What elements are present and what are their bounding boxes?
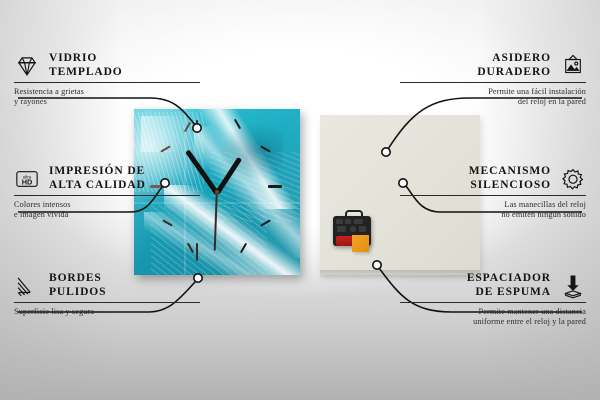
feature-subtitle: Superficie lisa y segura <box>14 307 200 317</box>
clock-tick <box>196 120 198 133</box>
feature-title: IMPRESIÓN DE ALTA CALIDAD <box>49 165 146 192</box>
feature-subtitle: Resistencia a grietas y rayones <box>14 87 200 108</box>
feature-divider <box>400 195 586 196</box>
clock-tick <box>268 185 282 188</box>
feature-title: VIDRIO TEMPLADO <box>49 52 123 79</box>
feature-header: VIDRIO TEMPLADO <box>14 52 200 79</box>
feature-header: BORDES PULIDOS <box>14 272 200 299</box>
feature-title: MECANISMO SILENCIOSO <box>469 165 551 192</box>
feature-header: ESPACIADOR DE ESPUMA <box>400 272 586 299</box>
feature-subtitle: Colores intensos e imagen vívida <box>14 200 200 221</box>
gear-icon <box>560 166 586 192</box>
clock-tick <box>196 243 198 261</box>
feature-header: ASIDERO DURADERO <box>400 52 586 79</box>
feature-divider <box>400 302 586 303</box>
svg-text:HD: HD <box>22 177 33 186</box>
feature-asidero-duradero: ASIDERO DURADERO Permite una fácil insta… <box>400 52 586 108</box>
feature-vidrio-templado: VIDRIO TEMPLADO Resistencia a grietas y … <box>14 52 200 108</box>
feature-header: MECANISMO SILENCIOSO <box>400 165 586 192</box>
feature-divider <box>400 82 586 83</box>
polished-edges-icon <box>14 273 40 299</box>
foam-spacer <box>352 235 369 252</box>
feature-espaciador-de-espuma: ESPACIADOR DE ESPUMA Permite mantener un… <box>400 272 586 328</box>
feature-divider <box>14 82 200 83</box>
feature-subtitle: Permite mantener una distancia uniforme … <box>400 307 586 328</box>
clock-center-pin <box>215 190 219 194</box>
feature-header: ultra HD IMPRESIÓN DE ALTA CALIDAD <box>14 165 200 192</box>
feature-subtitle: Permite una fácil instalación del reloj … <box>400 87 586 108</box>
feature-divider <box>14 195 200 196</box>
feature-subtitle: Las manecillas del reloj no emiten ningú… <box>400 200 586 221</box>
down-arrow-spacer-icon <box>560 273 586 299</box>
infographic-canvas: VIDRIO TEMPLADO Resistencia a grietas y … <box>0 0 600 400</box>
feature-title: BORDES PULIDOS <box>49 272 106 299</box>
feature-mecanismo-silencioso: MECANISMO SILENCIOSO Las manecillas del … <box>400 165 586 221</box>
feature-divider <box>14 302 200 303</box>
ultra-hd-icon: ultra HD <box>14 166 40 192</box>
feature-bordes-pulidos: BORDES PULIDOS Superficie lisa y segura <box>14 272 200 317</box>
feature-impresion-alta-calidad: ultra HD IMPRESIÓN DE ALTA CALIDAD Color… <box>14 165 200 221</box>
diamond-icon <box>14 53 40 79</box>
feature-title: ASIDERO DURADERO <box>477 52 551 79</box>
framed-picture-hanging-icon <box>560 53 586 79</box>
feature-title: ESPACIADOR DE ESPUMA <box>467 272 551 299</box>
